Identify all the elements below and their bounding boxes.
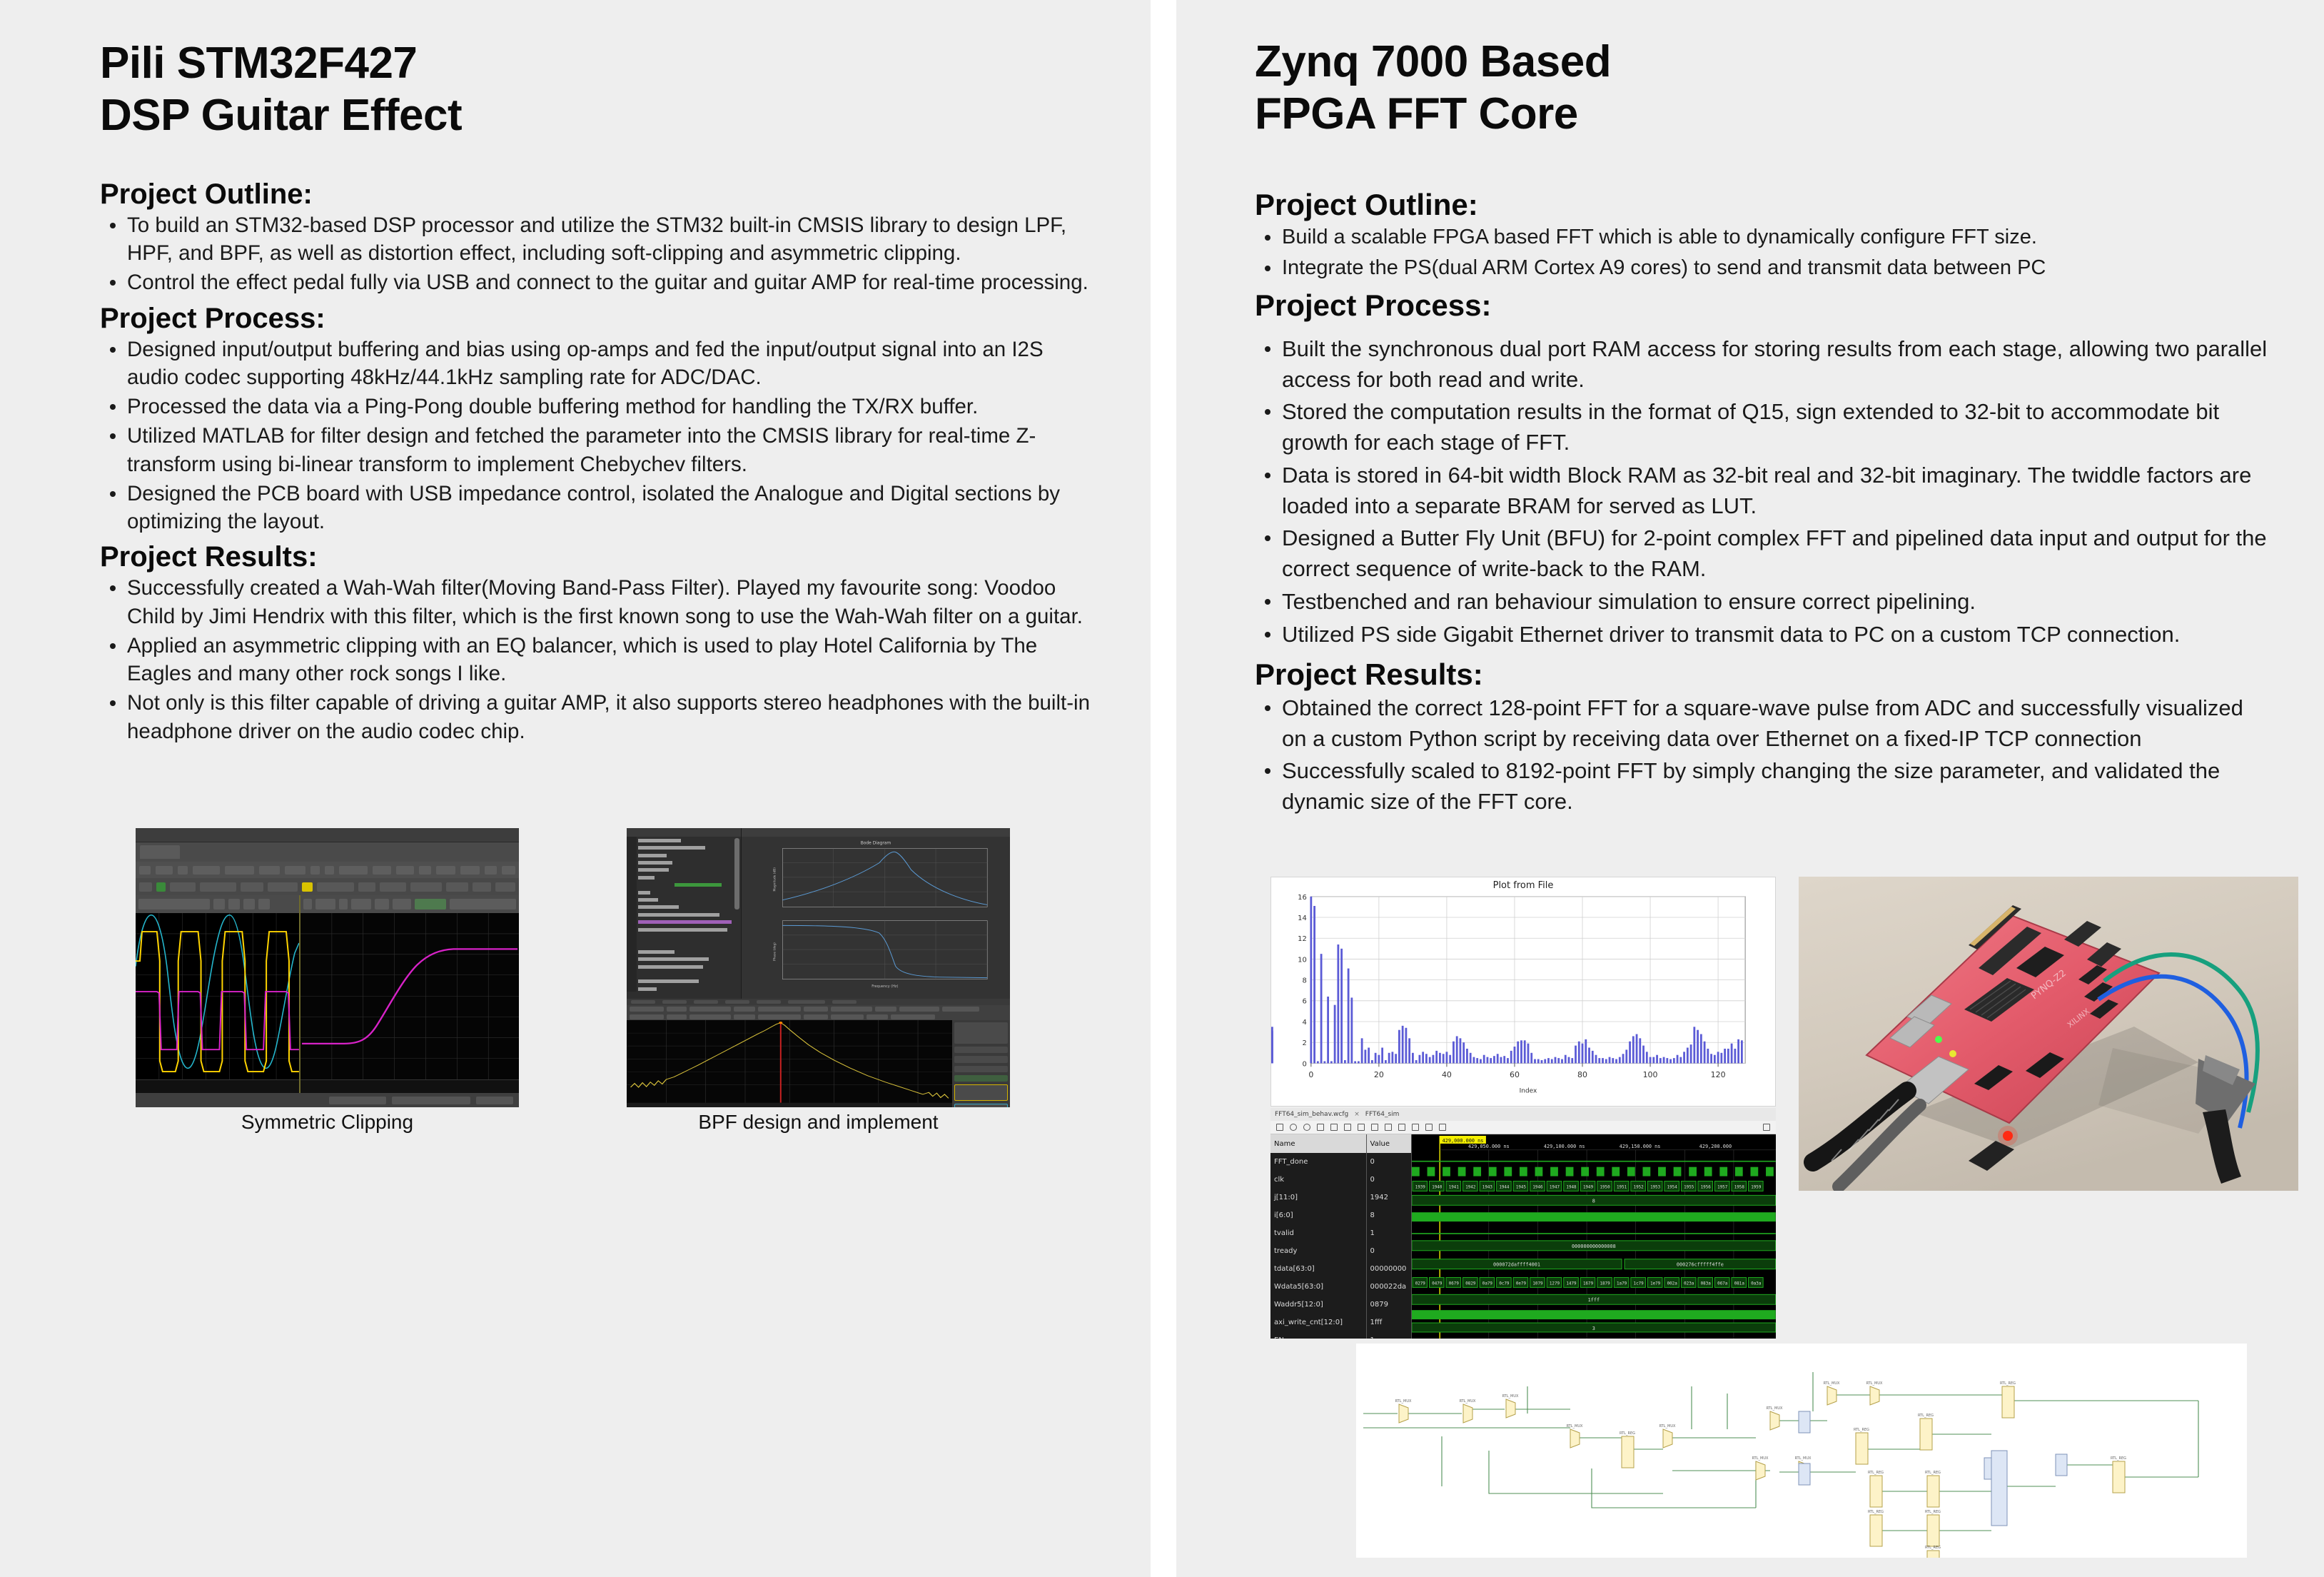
rtl-schematic-svg: RTL_MUXRTL_MUXRTL_MUXRTL_MUXRTL_MUXRTL_M…	[1356, 1344, 2247, 1558]
list-item: Utilized PS side Gigabit Ethernet driver…	[1255, 620, 2268, 650]
svg-text:1fff: 1fff	[1588, 1297, 1600, 1303]
svg-text:002a: 002a	[1667, 1282, 1678, 1286]
svg-text:RTL_REG: RTL_REG	[1925, 1546, 1941, 1550]
right-outline-list: Build a scalable FPGA based FFT which is…	[1255, 223, 2268, 282]
svg-text:1950: 1950	[1600, 1186, 1611, 1190]
signal-name[interactable]: EN	[1270, 1331, 1366, 1339]
svg-text:1954: 1954	[1667, 1186, 1678, 1190]
marker-icon[interactable]	[1344, 1124, 1351, 1131]
svg-text:0479: 0479	[1432, 1282, 1443, 1286]
scope-statusbar	[136, 1093, 519, 1107]
list-item: Build a scalable FPGA based FFT which is…	[1255, 223, 2268, 251]
signal-name[interactable]: tdata[63:0]	[1270, 1260, 1366, 1278]
fft-plot-svg: 020406080100120 0246810121416 Index	[1271, 891, 1775, 1101]
svg-text:1a79: 1a79	[1617, 1282, 1627, 1286]
matlab-bode-figure: Bode Diagram Magnitude	[742, 828, 1010, 999]
remove-marker-icon[interactable]	[1425, 1124, 1433, 1131]
svg-text:RTL_REG: RTL_REG	[2111, 1456, 2126, 1461]
svg-text:023a: 023a	[1684, 1282, 1694, 1286]
svg-text:429,200.000: 429,200.000	[1699, 1144, 1732, 1149]
poster-root: Pili STM32F427 DSP Guitar Effect Project…	[0, 0, 2324, 1577]
signal-value: 0879	[1367, 1296, 1412, 1314]
list-item: Testbenched and ran behaviour simulation…	[1255, 587, 2268, 618]
right-heading-results: Project Results:	[1255, 657, 2268, 692]
scope-xy-grid	[300, 913, 519, 1079]
signal-value: 0	[1367, 1242, 1412, 1260]
left-outline-list: To build an STM32-based DSP processor an…	[100, 211, 1099, 297]
list-item: Successfully scaled to 8192-point FFT by…	[1255, 756, 2268, 817]
svg-text:Magnitude (dB): Magnitude (dB)	[773, 867, 777, 892]
scope-xy-pane[interactable]	[300, 895, 519, 1094]
signal-value: 1	[1367, 1224, 1412, 1242]
right-title-line1: Zynq 7000 Based	[1255, 36, 2268, 88]
svg-text:3: 3	[1592, 1326, 1595, 1331]
svg-text:1879: 1879	[1600, 1282, 1611, 1286]
svg-text:1942: 1942	[1466, 1186, 1477, 1190]
zoom-out-icon[interactable]	[1303, 1124, 1310, 1131]
right-title-line2: FPGA FFT Core	[1255, 88, 2268, 140]
scope-time-grid	[136, 913, 299, 1079]
svg-text:1956: 1956	[1701, 1186, 1712, 1190]
vivado-tabbar[interactable]: FFT64_sim_behav.wcfg × FFT64_sim	[1270, 1108, 1776, 1121]
svg-text:0: 0	[1308, 1070, 1313, 1079]
signal-name[interactable]: clk	[1270, 1171, 1366, 1189]
svg-text:1479: 1479	[1567, 1282, 1577, 1286]
settings-icon[interactable]	[1763, 1124, 1770, 1131]
svg-text:RTL_MUX: RTL_MUX	[1567, 1424, 1583, 1429]
vivado-tab-label: FFT64_sim_behav.wcfg	[1275, 1111, 1348, 1118]
fft-plot: Plot from File 020406080100120 024681012…	[1270, 877, 1776, 1107]
right-heading-process: Project Process:	[1255, 288, 2268, 323]
svg-text:1947: 1947	[1550, 1186, 1560, 1190]
svg-text:2: 2	[1303, 1039, 1307, 1047]
svg-text:RTL_REG: RTL_REG	[1868, 1471, 1884, 1475]
svg-text:RTL_MUX: RTL_MUX	[1659, 1424, 1676, 1429]
list-item: Processed the data via a Ping-Pong doubl…	[100, 393, 1099, 420]
vivado-toolbar[interactable]	[1270, 1121, 1776, 1134]
list-item: Obtained the correct 128-point FFT for a…	[1255, 693, 2268, 755]
svg-text:RTL_MUX: RTL_MUX	[1866, 1381, 1883, 1386]
rtl-schematic: RTL_MUXRTL_MUXRTL_MUXRTL_MUXRTL_MUXRTL_M…	[1356, 1344, 2247, 1558]
svg-text:4: 4	[1303, 1019, 1307, 1027]
svg-text:429,000.000 ns: 429,000.000 ns	[1443, 1138, 1484, 1144]
svg-text:429,100.000 ns: 429,100.000 ns	[1544, 1144, 1585, 1149]
signal-name[interactable]: FFT_done	[1270, 1153, 1366, 1171]
save-icon[interactable]	[1276, 1124, 1283, 1131]
matlab-editor[interactable]	[627, 828, 742, 999]
svg-text:1953: 1953	[1650, 1186, 1661, 1190]
signal-value: 00000000	[1367, 1260, 1412, 1278]
signal-value: 000022da	[1367, 1278, 1412, 1296]
page-right: Zynq 7000 Based FPGA FFT Core Project Ou…	[1176, 0, 2324, 1577]
na-channel-panel[interactable]	[952, 1020, 1010, 1107]
svg-text:RTL_REG: RTL_REG	[1854, 1428, 1869, 1432]
svg-text:RTL_REG: RTL_REG	[2000, 1381, 2016, 1386]
svg-text:Index: Index	[1520, 1088, 1537, 1095]
right-heading-outline: Project Outline:	[1255, 187, 2268, 223]
svg-text:1944: 1944	[1500, 1186, 1510, 1190]
list-item: Integrate the PS(dual ARM Cortex A9 core…	[1255, 253, 2268, 282]
svg-text:1079: 1079	[1533, 1282, 1544, 1286]
left-results-list: Successfully created a Wah-Wah filter(Mo…	[100, 574, 1099, 745]
svg-text:40: 40	[1442, 1070, 1452, 1079]
svg-text:RTL_MUX: RTL_MUX	[1502, 1394, 1519, 1399]
signal-name[interactable]: i[6:0]	[1270, 1206, 1366, 1224]
zoom-fit-icon[interactable]	[1317, 1124, 1324, 1131]
signal-name[interactable]: j[11:0]	[1270, 1189, 1366, 1206]
signal-value: 1	[1367, 1331, 1412, 1339]
scope-toolbar-trigger	[136, 878, 519, 895]
list-item: To build an STM32-based DSP processor an…	[100, 211, 1099, 267]
svg-text:1958: 1958	[1734, 1186, 1745, 1190]
signal-value: 8	[1367, 1206, 1412, 1224]
svg-text:1952: 1952	[1634, 1186, 1645, 1190]
svg-text:0c79: 0c79	[1500, 1282, 1510, 1286]
column-header-name: Name	[1270, 1134, 1366, 1153]
svg-text:1946: 1946	[1533, 1186, 1544, 1190]
svg-text:0a79: 0a79	[1482, 1282, 1493, 1286]
svg-text:0829: 0829	[1466, 1282, 1477, 1286]
svg-text:RTL_REG: RTL_REG	[1868, 1510, 1884, 1514]
matlab-caption: BPF design and implement	[627, 1111, 1010, 1134]
svg-text:1939: 1939	[1415, 1186, 1426, 1190]
svg-text:1955: 1955	[1684, 1186, 1694, 1190]
svg-text:8: 8	[1592, 1198, 1595, 1204]
list-item: Utilized MATLAB for filter design and fe…	[100, 422, 1099, 478]
svg-text:60: 60	[1510, 1070, 1520, 1079]
svg-text:1943: 1943	[1482, 1186, 1493, 1190]
undo-icon[interactable]	[1385, 1124, 1392, 1131]
svg-text:RTL_MUX: RTL_MUX	[1795, 1456, 1812, 1461]
zoom-in-icon[interactable]	[1290, 1124, 1297, 1131]
signal-name[interactable]: Wdata5[63:0]	[1270, 1278, 1366, 1296]
scope-toolbar-top	[136, 862, 519, 878]
svg-text:80: 80	[1577, 1070, 1587, 1079]
signal-name[interactable]: tvalid	[1270, 1224, 1366, 1242]
page-divider	[1151, 0, 1176, 1577]
prev-transition-icon[interactable]	[1358, 1124, 1365, 1131]
vivado-waveform: FFT64_sim_behav.wcfg × FFT64_sim	[1270, 1108, 1776, 1339]
svg-text:000276cfffff4ffe: 000276cfffff4ffe	[1677, 1262, 1724, 1268]
list-item: Applied an asymmetric clipping with an E…	[100, 632, 1099, 687]
page-left: Pili STM32F427 DSP Guitar Effect Project…	[0, 0, 1151, 1577]
redo-icon[interactable]	[1398, 1124, 1405, 1131]
svg-text:1957: 1957	[1717, 1186, 1728, 1190]
list-item: Designed a Butter Fly Unit (BFU) for 2-p…	[1255, 523, 2268, 585]
signal-name[interactable]: axi_write_cnt[12:0]	[1270, 1314, 1366, 1331]
vivado-tab-label-2: FFT64_sim	[1365, 1111, 1400, 1118]
svg-text:RTL_REG: RTL_REG	[1918, 1414, 1934, 1418]
svg-text:1e79: 1e79	[1650, 1282, 1661, 1286]
svg-text:1945: 1945	[1516, 1186, 1527, 1190]
svg-text:067a: 067a	[1717, 1282, 1728, 1286]
svg-text:1941: 1941	[1449, 1186, 1460, 1190]
list-item: Designed input/output buffering and bias…	[100, 336, 1099, 391]
left-title-line2: DSP Guitar Effect	[100, 89, 1099, 141]
signal-name[interactable]: tready	[1270, 1242, 1366, 1260]
list-item: Stored the computation results in the fo…	[1255, 397, 2268, 458]
svg-text:RTL_REG: RTL_REG	[1925, 1471, 1941, 1475]
scope-tabbar	[136, 842, 519, 862]
scope-tab	[140, 845, 180, 859]
svg-text:Phase (deg): Phase (deg)	[773, 942, 777, 961]
svg-text:10: 10	[1298, 956, 1307, 964]
signal-value: 0	[1367, 1171, 1412, 1189]
svg-text:RTL_MUX: RTL_MUX	[1395, 1399, 1412, 1404]
svg-text:Bode Diagram: Bode Diagram	[861, 842, 891, 846]
matlab-bpf-screenshot: Bode Diagram Magnitude	[627, 828, 1010, 1107]
svg-text:0679: 0679	[1449, 1282, 1460, 1286]
vivado-wave-canvas[interactable]: 429,000.000 ns 429,050.000 ns429,100.000…	[1412, 1134, 1776, 1339]
scope-time-pane[interactable]	[136, 895, 300, 1094]
svg-text:RTL_MUX: RTL_MUX	[1767, 1406, 1783, 1411]
svg-text:RTL_REG: RTL_REG	[1620, 1431, 1635, 1436]
svg-text:1279: 1279	[1550, 1282, 1560, 1286]
svg-text:RTL_MUX: RTL_MUX	[1460, 1399, 1476, 1404]
list-item: Successfully created a Wah-Wah filter(Mo…	[100, 574, 1099, 630]
scope-menubar	[136, 828, 519, 842]
oscilloscope-screenshot	[136, 828, 519, 1107]
list-item: Data is stored in 64-bit width Block RAM…	[1255, 460, 2268, 522]
network-analyzer	[627, 999, 1010, 1108]
svg-text:8: 8	[1303, 977, 1307, 985]
left-process-list: Designed input/output buffering and bias…	[100, 336, 1099, 536]
signal-value: 1942	[1367, 1189, 1412, 1206]
svg-text:083a: 083a	[1701, 1282, 1712, 1286]
svg-text:6: 6	[1303, 998, 1307, 1006]
svg-text:081a: 081a	[1734, 1282, 1745, 1286]
svg-text:120: 120	[1711, 1070, 1726, 1079]
svg-text:RTL_MUX: RTL_MUX	[1752, 1456, 1769, 1461]
svg-text:Frequency (Hz): Frequency (Hz)	[872, 984, 898, 989]
left-heading-results: Project Results:	[100, 540, 1099, 574]
svg-text:20: 20	[1374, 1070, 1384, 1079]
svg-text:100: 100	[1643, 1070, 1658, 1079]
signal-value: 1fff	[1367, 1314, 1412, 1331]
na-sweep-plot	[627, 1020, 952, 1107]
list-item: Built the synchronous dual port RAM acce…	[1255, 334, 2268, 395]
svg-text:RTL_MUX: RTL_MUX	[1824, 1381, 1840, 1386]
svg-text:1949: 1949	[1583, 1186, 1594, 1190]
svg-text:429,050.000 ns: 429,050.000 ns	[1468, 1144, 1510, 1149]
svg-text:1c79: 1c79	[1634, 1282, 1645, 1286]
left-heading-outline: Project Outline:	[100, 177, 1099, 211]
svg-text:16: 16	[1298, 894, 1307, 902]
right-process-list: Built the synchronous dual port RAM acce…	[1255, 334, 2268, 650]
list-item: Control the effect pedal fully via USB a…	[100, 268, 1099, 296]
signal-name[interactable]: Waddr5[12:0]	[1270, 1296, 1366, 1314]
cut-icon[interactable]	[1330, 1124, 1338, 1131]
svg-text:1679: 1679	[1583, 1282, 1594, 1286]
svg-text:429,150.000 ns: 429,150.000 ns	[1620, 1144, 1661, 1149]
fpga-board-photo: PYNQ-Z2 XILINX	[1799, 877, 2298, 1191]
svg-text:1948: 1948	[1567, 1186, 1577, 1190]
svg-text:1959: 1959	[1751, 1186, 1762, 1190]
svg-text:12: 12	[1298, 935, 1307, 943]
left-heading-process: Project Process:	[100, 301, 1099, 336]
svg-text:1951: 1951	[1617, 1186, 1627, 1190]
svg-text:000000000000008: 000000000000008	[1572, 1244, 1616, 1249]
vivado-name-column: Name FFT_doneclkj[11:0]i[6:0]tvalidtread…	[1270, 1134, 1367, 1339]
svg-text:0279: 0279	[1415, 1282, 1426, 1286]
next-transition-icon[interactable]	[1371, 1124, 1378, 1131]
svg-text:0: 0	[1303, 1060, 1307, 1068]
svg-text:0e79: 0e79	[1516, 1282, 1527, 1286]
svg-text:1940: 1940	[1432, 1186, 1443, 1190]
vivado-value-column: Value 00194281000000000000022da08791fff1…	[1367, 1134, 1413, 1339]
svg-text:000072daffff4001: 000072daffff4001	[1493, 1262, 1540, 1268]
add-marker-icon[interactable]	[1412, 1124, 1419, 1131]
column-header-value: Value	[1367, 1134, 1412, 1153]
signal-value: 0	[1367, 1153, 1412, 1171]
svg-text:RTL_REG: RTL_REG	[1925, 1510, 1941, 1514]
right-results-list: Obtained the correct 128-point FFT for a…	[1255, 693, 2268, 817]
svg-text:14: 14	[1298, 915, 1307, 922]
oscilloscope-caption: Symmetric Clipping	[136, 1111, 519, 1134]
svg-text:0a3a: 0a3a	[1751, 1282, 1762, 1286]
close-icon[interactable]	[1439, 1124, 1446, 1131]
fft-plot-title: Plot from File	[1271, 877, 1775, 891]
list-item: Designed the PCB board with USB impedanc…	[100, 480, 1099, 535]
left-title-line1: Pili STM32F427	[100, 37, 1099, 89]
list-item: Not only is this filter capable of drivi…	[100, 689, 1099, 745]
